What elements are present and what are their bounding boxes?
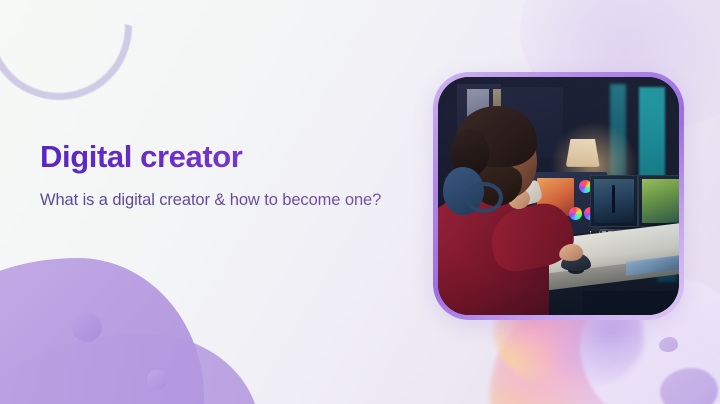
bottom-left-blob-secondary-shape bbox=[0, 334, 260, 404]
decorative-circle-small bbox=[147, 370, 167, 390]
bottom-left-blob-shape bbox=[0, 258, 204, 404]
bottom-right-pebble-large bbox=[660, 368, 718, 404]
top-left-ring-shape bbox=[0, 0, 151, 119]
photo-vignette-overlay bbox=[438, 77, 679, 315]
slide-canvas: Digital creator What is a digital creato… bbox=[0, 0, 720, 404]
page-subtitle: What is a digital creator & how to becom… bbox=[40, 189, 396, 212]
text-block: Digital creator What is a digital creato… bbox=[40, 140, 396, 212]
decorative-circle-large bbox=[72, 312, 102, 342]
photo-card-image bbox=[438, 77, 679, 315]
photo-card bbox=[433, 72, 684, 320]
page-title: Digital creator bbox=[40, 140, 396, 175]
bottom-right-pebble-small bbox=[659, 337, 678, 352]
